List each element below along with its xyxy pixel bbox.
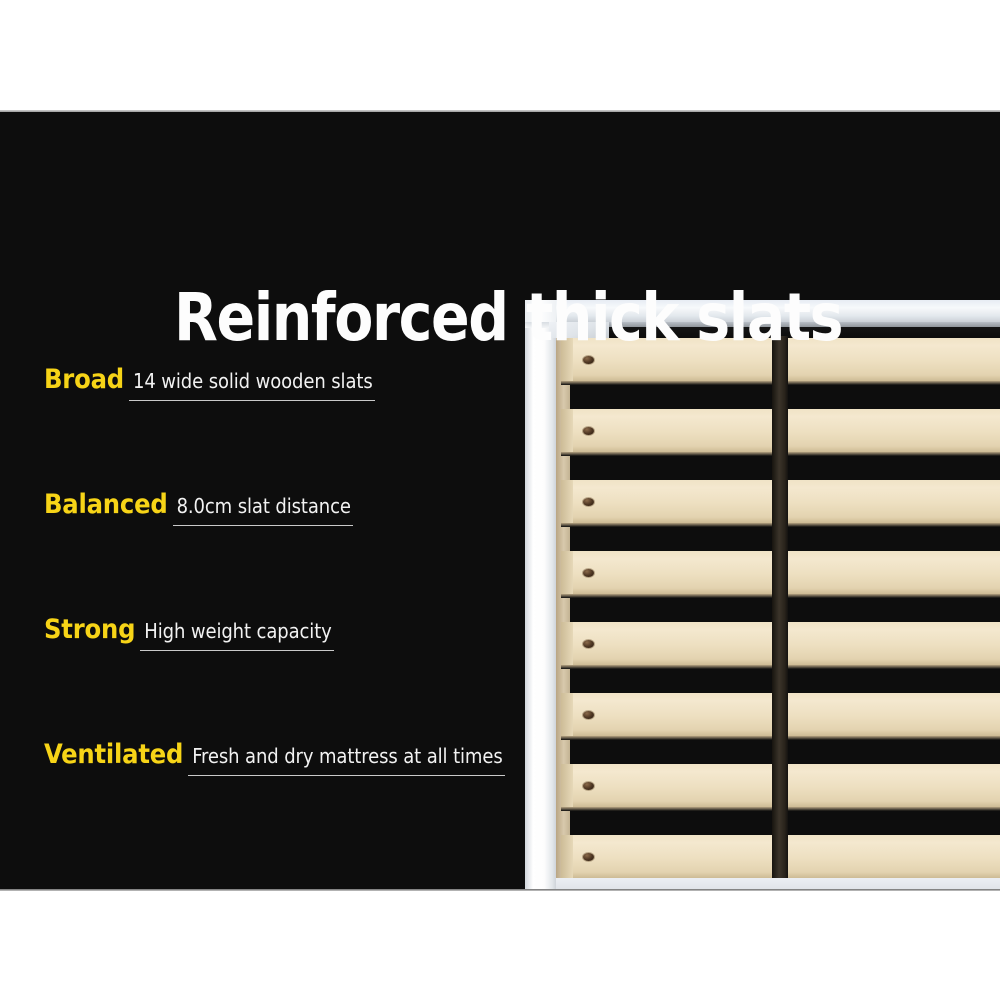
feature-description: Fresh and dry mattress at all times	[192, 744, 502, 768]
feature-underline	[173, 525, 353, 526]
slat-end-cap	[561, 480, 573, 523]
hero-panel: Reinforced thick slats Broad 14 wide sol…	[0, 112, 1000, 890]
slat-end-cap	[561, 764, 573, 807]
slat-end-cap	[561, 551, 573, 594]
corner-post	[525, 316, 556, 890]
screw-icon	[583, 427, 594, 435]
feature-description: High weight capacity	[144, 619, 331, 643]
feature-item-balanced: Balanced 8.0cm slat distance	[44, 489, 524, 614]
page-canvas: Reinforced thick slats Broad 14 wide sol…	[0, 0, 1000, 1000]
feature-underline	[129, 400, 375, 401]
feature-description: 14 wide solid wooden slats	[133, 369, 373, 393]
panel-bottom-divider	[0, 889, 1000, 891]
feature-key: Ventilated	[44, 739, 183, 770]
screw-icon	[583, 853, 594, 861]
feature-key: Strong	[44, 614, 135, 645]
center-support-batten	[772, 336, 788, 890]
bed-frame-slats-photo	[517, 300, 1000, 890]
screw-icon	[583, 356, 594, 364]
slat-end-cap	[561, 835, 573, 878]
feature-key: Broad	[44, 364, 124, 395]
slat-end-cap	[561, 693, 573, 736]
screw-icon	[583, 569, 594, 577]
feature-list: Broad 14 wide solid wooden slats Balance…	[44, 364, 524, 864]
feature-item-broad: Broad 14 wide solid wooden slats	[44, 364, 524, 489]
screw-icon	[583, 782, 594, 790]
screw-icon	[583, 711, 594, 719]
slat-end-cap	[561, 622, 573, 665]
feature-underline	[140, 650, 333, 651]
feature-item-ventilated: Ventilated Fresh and dry mattress at all…	[44, 739, 524, 864]
page-title: Reinforced thick slats	[174, 280, 842, 356]
slat-end-cap	[561, 409, 573, 452]
feature-underline	[188, 775, 504, 776]
screw-icon	[583, 498, 594, 506]
screw-icon	[583, 640, 594, 648]
feature-key: Balanced	[44, 489, 168, 520]
feature-description: 8.0cm slat distance	[177, 494, 351, 518]
feature-item-strong: Strong High weight capacity	[44, 614, 524, 739]
